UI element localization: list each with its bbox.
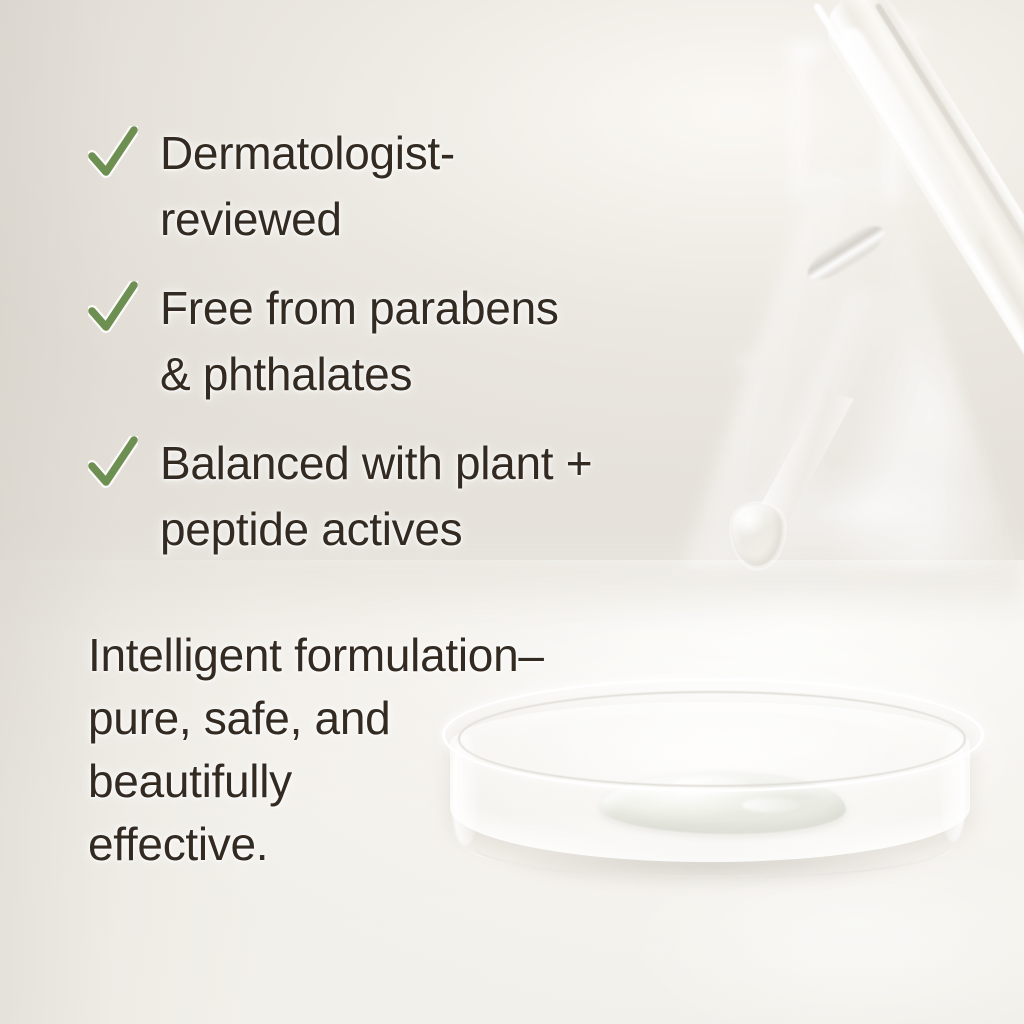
list-item: Free from parabens & phthalates	[88, 275, 728, 407]
list-item: Dermatologist- reviewed	[88, 120, 728, 252]
closing-statement: Intelligent formulation– pure, safe, and…	[88, 624, 668, 876]
benefit-label: Dermatologist- reviewed	[160, 120, 455, 252]
benefit-label: Balanced with plant + peptide actives	[160, 430, 592, 562]
check-icon	[88, 126, 138, 182]
check-icon	[88, 436, 138, 492]
benefits-list: Dermatologist- reviewed Free from parabe…	[88, 120, 728, 585]
product-benefits-graphic: Dermatologist- reviewed Free from parabe…	[0, 0, 1024, 1024]
check-icon	[88, 281, 138, 337]
text-overlay: Dermatologist- reviewed Free from parabe…	[0, 0, 1024, 1024]
benefit-label: Free from parabens & phthalates	[160, 275, 559, 407]
list-item: Balanced with plant + peptide actives	[88, 430, 728, 562]
